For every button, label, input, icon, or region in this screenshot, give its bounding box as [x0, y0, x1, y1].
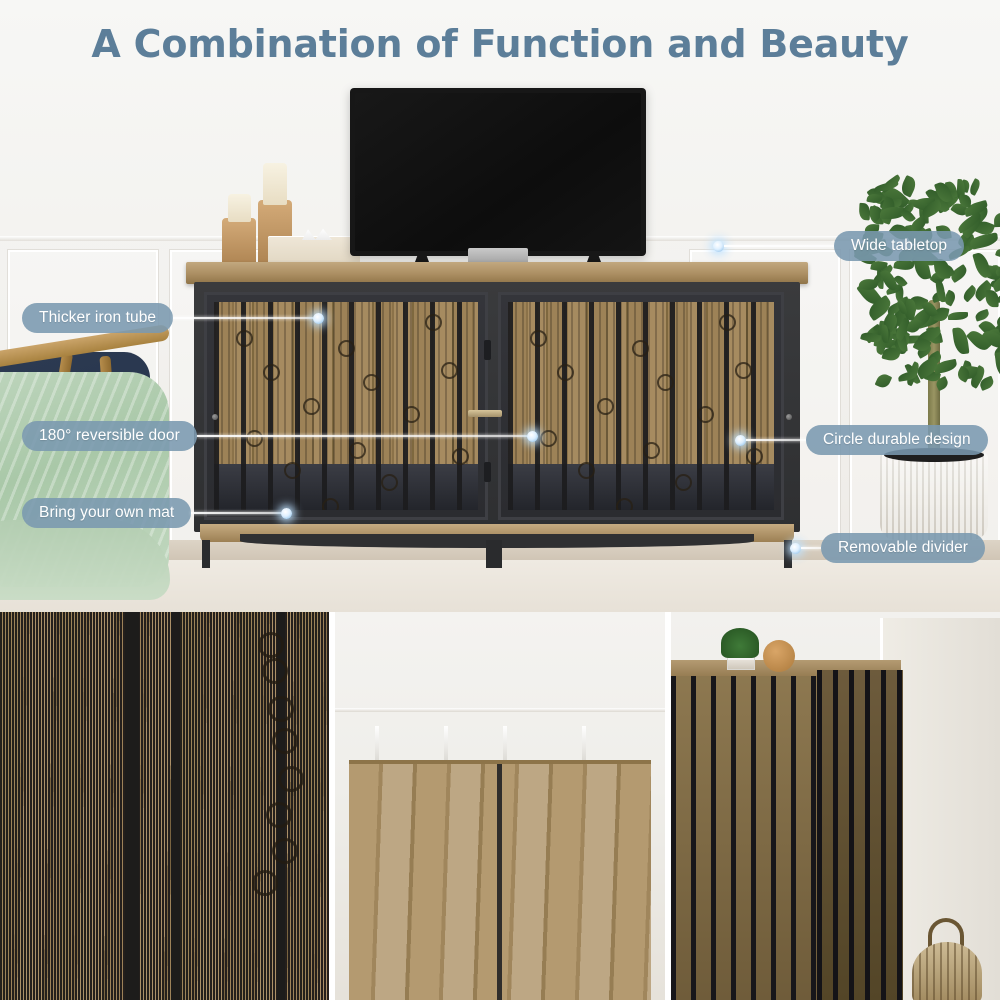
leaf	[959, 194, 972, 207]
callout-label: Wide tabletop	[834, 231, 964, 261]
features-section: Thicker iron tube Mitigating Canine Anxi…	[0, 612, 1000, 1000]
crate-tabletop	[186, 262, 808, 284]
wall-molding	[335, 708, 664, 712]
candle	[228, 194, 251, 222]
circle-design	[272, 728, 298, 754]
television	[350, 88, 646, 256]
callout-hotspot-dot	[713, 241, 724, 252]
callout-label: Thicker iron tube	[22, 303, 173, 333]
feature-photo-all-metal-structure	[671, 612, 1000, 1000]
callout-label: Circle durable design	[806, 425, 988, 455]
callout-circle-durable: Circle durable design	[735, 425, 988, 455]
circle-design	[263, 364, 280, 381]
removable-divider	[375, 726, 379, 760]
crate-leg	[486, 540, 494, 568]
circle-design	[268, 696, 294, 722]
door-hinge	[484, 462, 491, 482]
wooden-clock	[763, 640, 795, 672]
circle-design	[322, 498, 339, 510]
circle-design	[441, 362, 458, 379]
tv-screen	[355, 93, 641, 251]
circle-design	[530, 330, 547, 347]
circle-design	[735, 362, 752, 379]
circle-design	[643, 442, 660, 459]
crate-side	[817, 670, 903, 1000]
feature-photo-strip	[0, 612, 1000, 1000]
iron-bars	[214, 302, 478, 510]
callout-hotspot-dot	[281, 508, 292, 519]
circle-design	[266, 802, 292, 828]
circle-design	[616, 498, 633, 510]
callout-wide-tabletop: Wide tabletop	[713, 231, 964, 261]
callout-reversible-door: 180° reversible door	[22, 421, 538, 451]
infographic-page: Thicker iron tube180° reversible doorBri…	[0, 0, 1000, 1000]
removable-divider	[444, 726, 448, 760]
callout-removable-divider: Removable divider	[790, 533, 985, 563]
circle-design	[278, 766, 304, 792]
callout-bring-own-mat: Bring your own mat	[22, 498, 292, 528]
circle-design	[262, 658, 288, 684]
wicker-lantern	[912, 942, 982, 1000]
circle-design	[258, 632, 284, 658]
planter-pot	[880, 452, 988, 540]
callout-label: Bring your own mat	[22, 498, 191, 528]
callout-label: Removable divider	[821, 533, 985, 563]
callout-hotspot-dot	[735, 435, 746, 446]
callout-thicker-iron-tube: Thicker iron tube	[22, 303, 324, 333]
crate-leg	[494, 540, 502, 568]
callout-hotspot-dot	[313, 313, 324, 324]
removable-divider	[582, 726, 586, 760]
circle-design	[557, 364, 574, 381]
removable-divider	[503, 726, 507, 760]
leaf	[968, 178, 982, 196]
page-title: A Combination of Function and Beauty	[0, 22, 1000, 66]
circle-design	[303, 398, 320, 415]
circle-design	[719, 314, 736, 331]
succulent-plant	[721, 628, 759, 658]
callout-leader-line	[173, 317, 313, 319]
iron-frame-post	[171, 612, 180, 1000]
crate-back-panel	[349, 760, 652, 1000]
screw	[786, 414, 792, 420]
leaf	[859, 203, 871, 221]
crate-door-right	[498, 292, 784, 520]
circle-design	[425, 314, 442, 331]
circle-design	[657, 374, 674, 391]
callout-leader-line	[801, 547, 821, 549]
circle-design	[697, 406, 714, 423]
circle-design	[252, 870, 278, 896]
circle-design	[272, 838, 298, 864]
door-wood-panel	[508, 302, 774, 510]
screw	[212, 414, 218, 420]
feature-photo-thicker-iron-tube	[0, 612, 329, 1000]
green-throw-blanket-tail	[0, 520, 170, 600]
hero-scene: Thicker iron tube180° reversible doorBri…	[0, 0, 1000, 612]
feature-photo-back-vision	[335, 612, 664, 1000]
crate-front	[671, 676, 817, 1000]
door-latch	[468, 410, 494, 417]
callout-hotspot-dot	[527, 431, 538, 442]
callout-leader-line	[746, 439, 806, 441]
iron-frame-post	[125, 612, 139, 1000]
candle	[263, 163, 287, 205]
callout-leader-line	[724, 245, 834, 247]
callout-hotspot-dot	[790, 543, 801, 554]
door-hinge	[484, 340, 491, 360]
circle-design	[363, 374, 380, 391]
crate-leg	[202, 540, 210, 568]
callout-leader-line	[197, 435, 527, 437]
callout-label: 180° reversible door	[22, 421, 197, 451]
callout-leader-line	[191, 512, 281, 514]
iron-bars	[508, 302, 774, 510]
door-wood-panel	[214, 302, 478, 510]
circle-design	[597, 398, 614, 415]
